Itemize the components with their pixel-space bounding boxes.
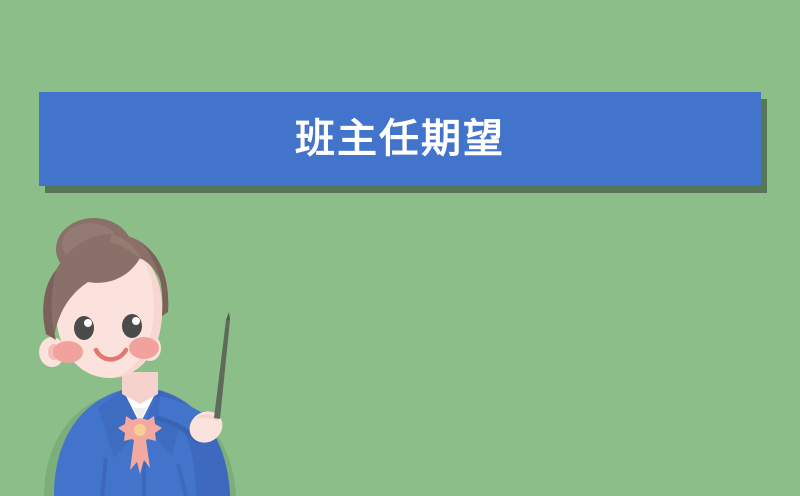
teacher-illustration [10,212,270,496]
slide-canvas: 班主任期望 [0,0,800,496]
pointer-stick [214,312,230,419]
page-title: 班主任期望 [295,119,505,159]
title-banner: 班主任期望 [39,92,761,186]
